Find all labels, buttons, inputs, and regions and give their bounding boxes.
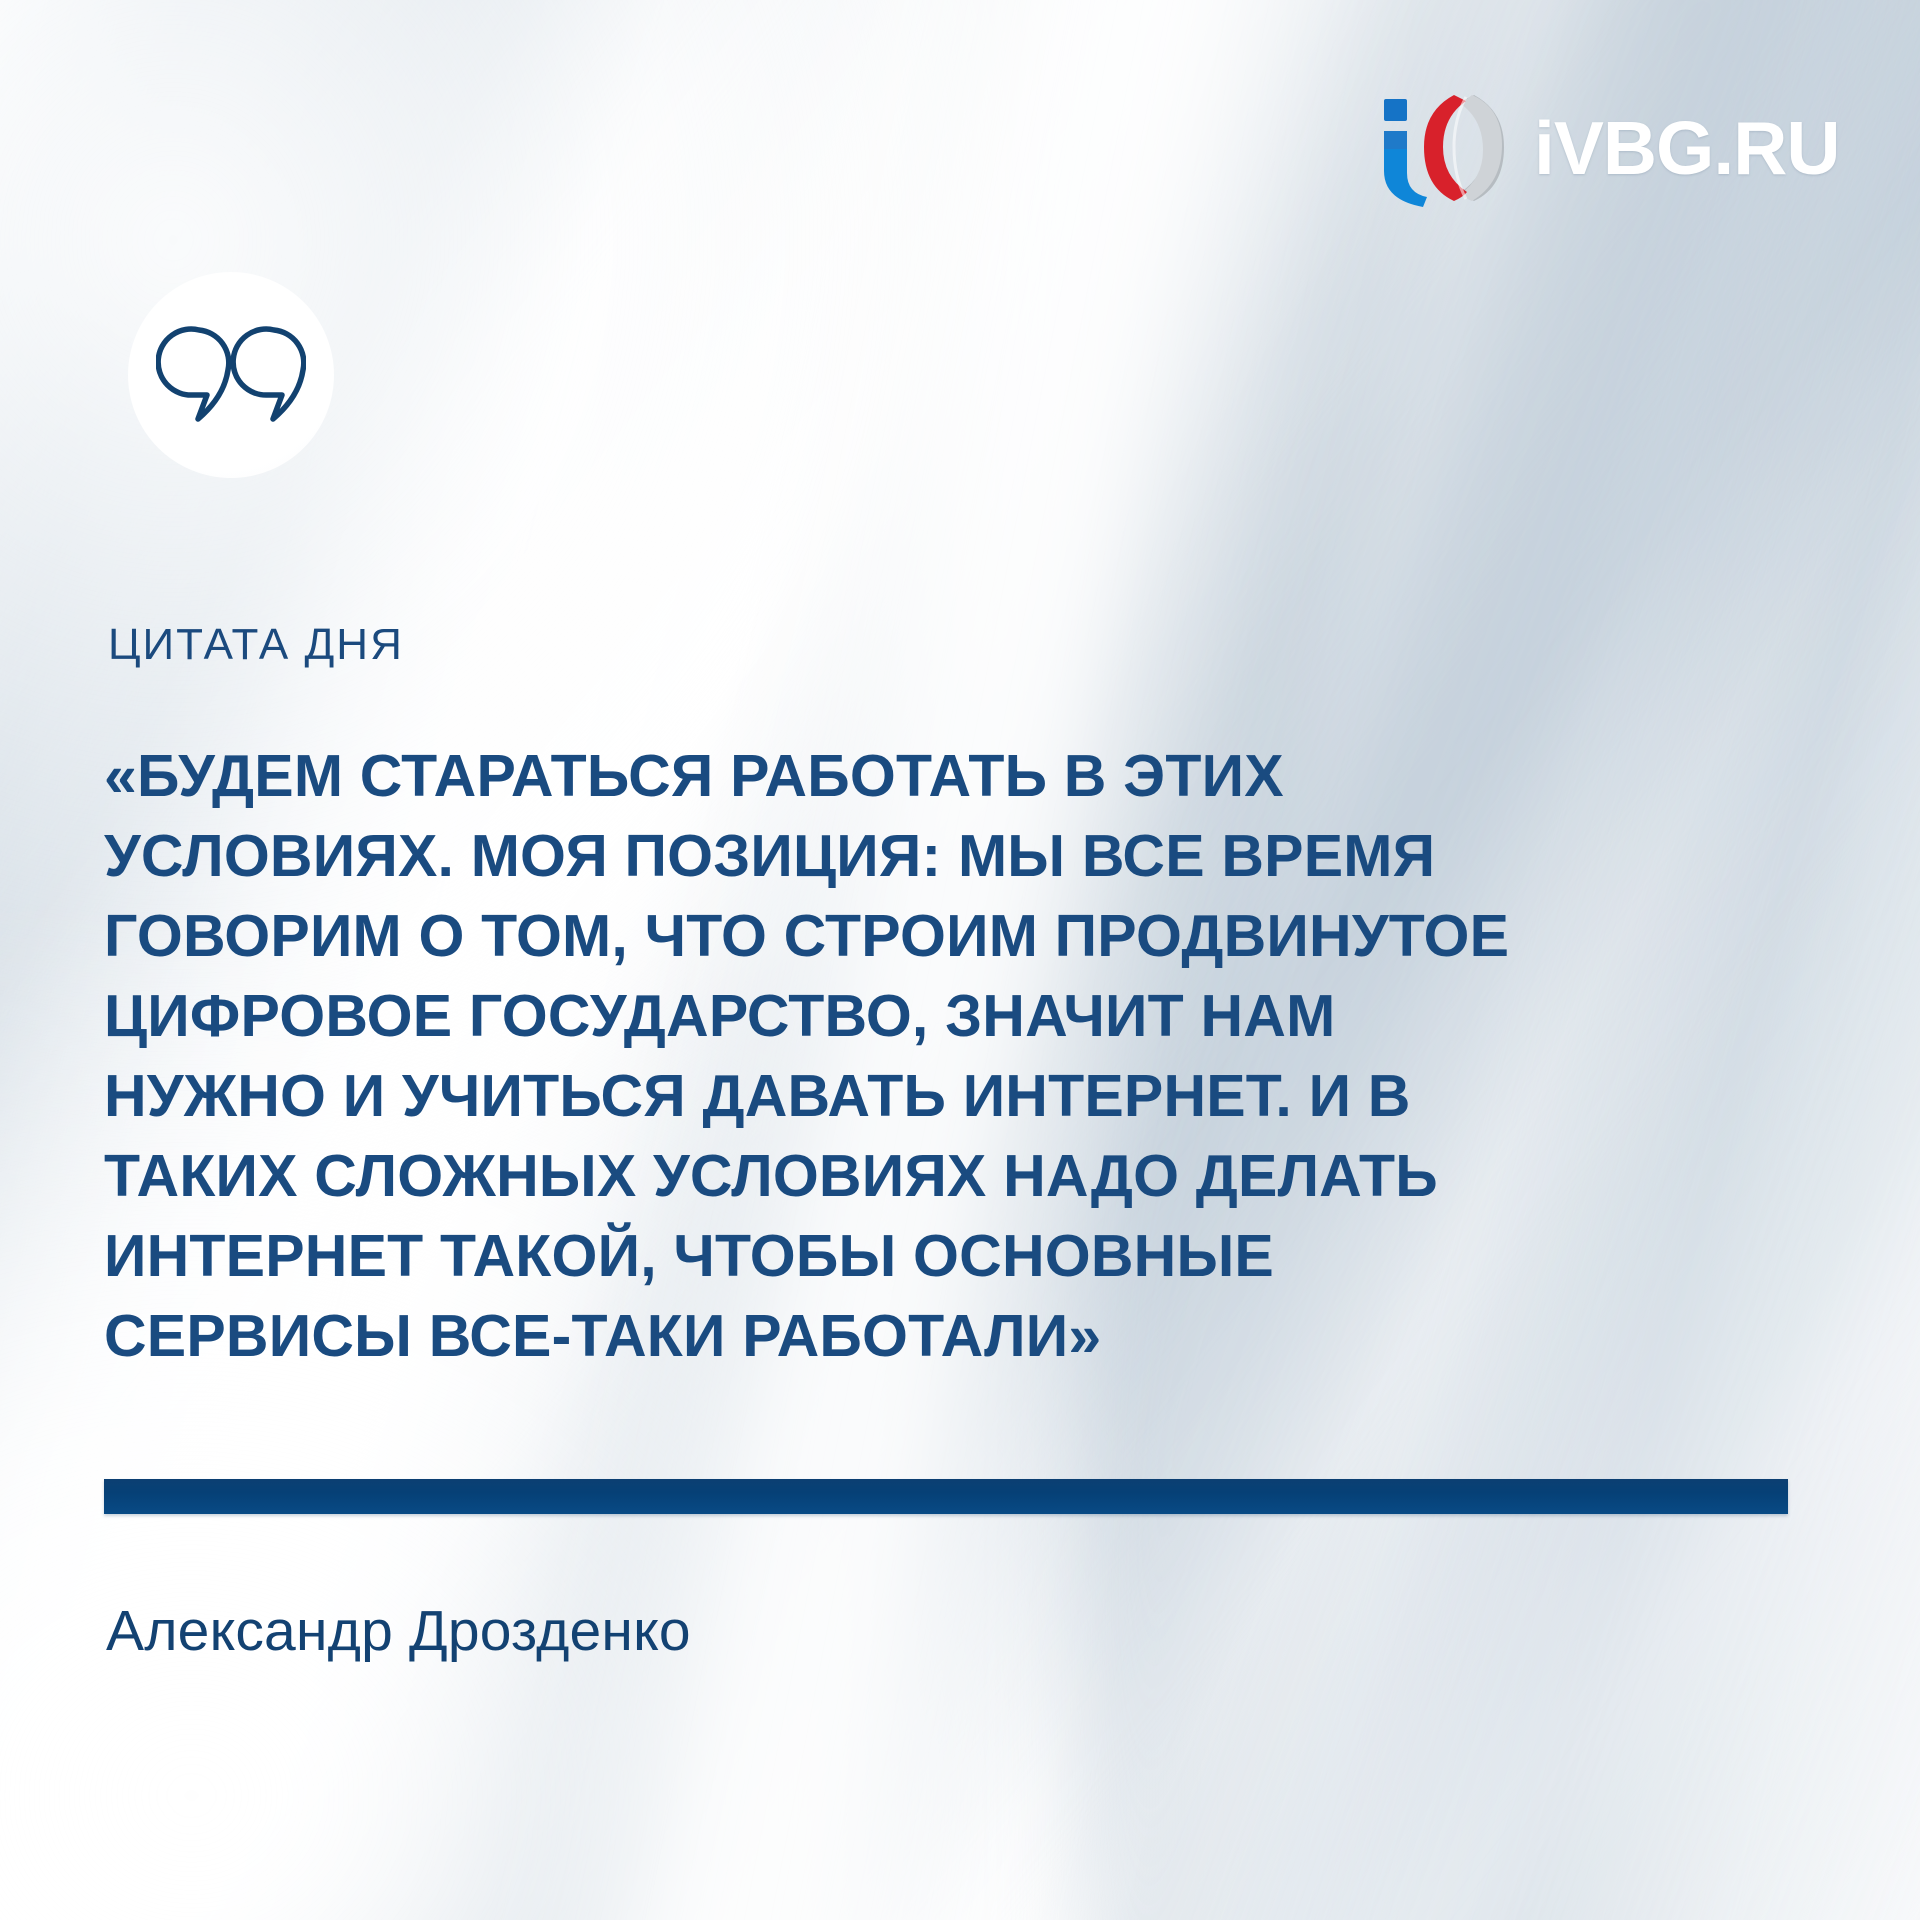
logo-wordmark: iVBG.RU <box>1534 111 1840 186</box>
site-logo[interactable]: iVBG.RU <box>1378 88 1858 208</box>
divider-bar <box>104 1479 1788 1514</box>
quote-line: УСЛОВИЯХ. МОЯ ПОЗИЦИЯ: МЫ ВСЕ ВРЕМЯ <box>104 816 1744 896</box>
quote-line: ТАКИХ СЛОЖНЫХ УСЛОВИЯХ НАДО ДЕЛАТЬ <box>104 1136 1744 1216</box>
quote-line: ИНТЕРНЕТ ТАКОЙ, ЧТОБЫ ОСНОВНЫЕ <box>104 1216 1744 1296</box>
quote-badge <box>128 272 334 478</box>
double-quote-icon <box>156 320 306 430</box>
ivbg-iw-monogram-icon <box>1378 89 1528 207</box>
quote-line: «БУДЕМ СТАРАТЬСЯ РАБОТАТЬ В ЭТИХ <box>104 736 1744 816</box>
quote-line: НУЖНО И УЧИТЬСЯ ДАВАТЬ ИНТЕРНЕТ. И В <box>104 1056 1744 1136</box>
quote-line: ГОВОРИМ О ТОМ, ЧТО СТРОИМ ПРОДВИНУТОЕ <box>104 896 1744 976</box>
quote-text: «БУДЕМ СТАРАТЬСЯ РАБОТАТЬ В ЭТИХ УСЛОВИЯ… <box>104 736 1744 1376</box>
quote-card: iVBG.RU ЦИТАТА ДНЯ «БУДЕМ СТАРАТЬСЯ РАБО… <box>0 0 1920 1920</box>
kicker-label: ЦИТАТА ДНЯ <box>108 620 404 670</box>
quote-line: СЕРВИСЫ ВСЕ-ТАКИ РАБОТАЛИ» <box>104 1296 1744 1376</box>
author-name: Александр Дрозденко <box>106 1598 691 1664</box>
quote-line: ЦИФРОВОЕ ГОСУДАРСТВО, ЗНАЧИТ НАМ <box>104 976 1744 1056</box>
